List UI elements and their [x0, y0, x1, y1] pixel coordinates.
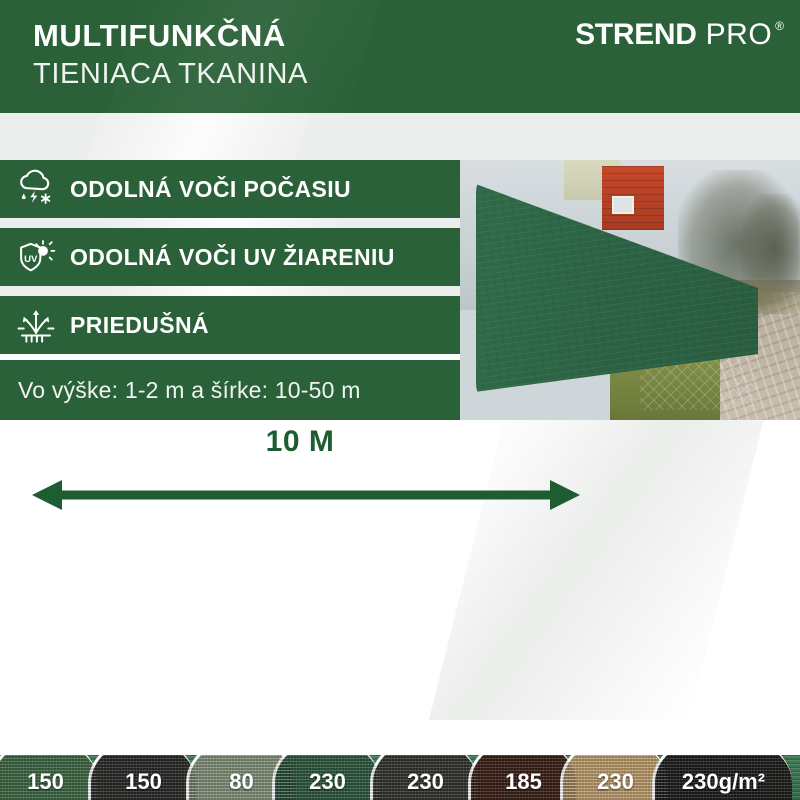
dimensions-section: 10 M OČKÁ pre jednoduchú montáž k plotu … — [0, 420, 800, 800]
swatch-item[interactable]: 230g/m² — [652, 755, 792, 800]
swatch-item[interactable]: 150 — [88, 755, 196, 800]
brand-name-primary: STREND — [575, 18, 697, 52]
header-divider-strip — [0, 113, 800, 160]
swatch-item[interactable]: 185 — [468, 755, 576, 800]
feature-label-uv: ODOLNÁ VOČI UV ŽIARENIU — [70, 244, 395, 271]
swatch-value: 230 — [309, 769, 346, 800]
header-banner: MULTIFUNKČNÁ TIENIACA TKANINA STREND PRO… — [0, 0, 800, 113]
swatch-value: 230g/m² — [682, 769, 765, 800]
swatch-value: 150 — [27, 769, 64, 800]
photo-red-house — [602, 166, 664, 230]
fence-installation-photo — [460, 160, 800, 420]
swatch-value: 230 — [597, 769, 634, 800]
swatch-item[interactable]: 150 — [0, 755, 98, 800]
page-subtitle: TIENIACA TKANINA — [33, 56, 308, 92]
brand-name-secondary: PRO — [706, 18, 773, 52]
svg-text:UV: UV — [24, 254, 38, 265]
swatch-value: 230 — [407, 769, 444, 800]
title-block: MULTIFUNKČNÁ TIENIACA TKANINA — [33, 18, 308, 92]
feature-label-breathable: PRIEDUŠNÁ — [70, 312, 209, 339]
uv-shield-sun-icon: UV — [14, 235, 58, 279]
divider-sheen-decoration — [63, 113, 327, 160]
swatch-item[interactable]: 230 — [370, 755, 478, 800]
spacer-sheen-decoration — [99, 286, 352, 296]
swatch-value: 150 — [125, 769, 162, 800]
swatch-item[interactable]: 230 — [560, 755, 668, 800]
width-dimension-arrow-icon — [32, 478, 580, 512]
swatch-value: 80 — [229, 769, 253, 800]
spacer-sheen-decoration — [99, 218, 352, 228]
registered-trademark-icon: ® — [775, 19, 784, 33]
cloud-rain-lightning-snow-icon — [14, 167, 58, 211]
page-title: MULTIFUNKČNÁ — [33, 18, 308, 54]
photo-house-window — [612, 196, 634, 214]
color-weight-swatch-strip: 150 150 80 230 230 185 230 230g/ — [0, 755, 800, 800]
dimensions-note-text: Vo výške: 1-2 m a šírke: 10-50 m — [18, 377, 361, 404]
swatch-item[interactable]: 230 — [272, 755, 380, 800]
brand-logo: STREND PRO ® — [575, 18, 784, 52]
feature-label-weather: ODOLNÁ VOČI POČASIU — [70, 176, 351, 203]
width-dimension-label: 10 M — [0, 425, 600, 459]
swatch-value: 185 — [505, 769, 542, 800]
product-infographic: MULTIFUNKČNÁ TIENIACA TKANINA STREND PRO… — [0, 0, 800, 800]
section-sheen-decoration — [429, 420, 771, 720]
airflow-breathable-icon — [14, 303, 58, 347]
